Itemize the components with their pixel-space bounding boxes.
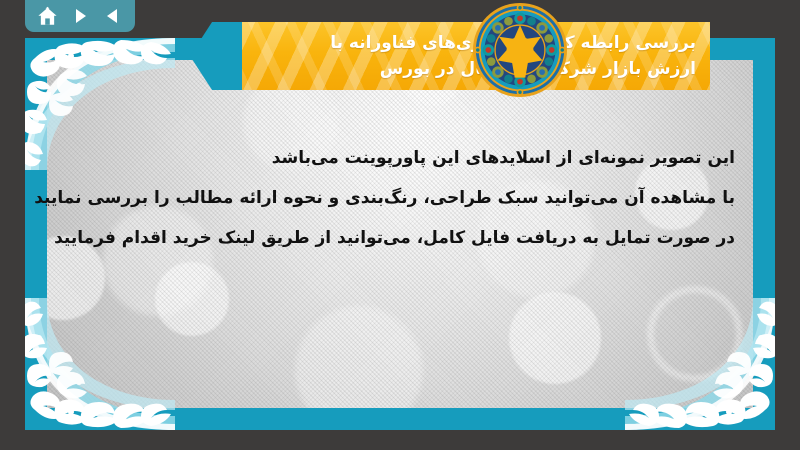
banner-chevron-arrow bbox=[190, 22, 248, 90]
bokeh-circle bbox=[295, 306, 423, 408]
home-button[interactable] bbox=[34, 3, 60, 29]
body-line-2: با مشاهده آن می‌توانید سبک طراحی، رنگ‌بن… bbox=[95, 178, 735, 218]
navigation-bar bbox=[25, 0, 135, 32]
bokeh-ring bbox=[647, 286, 743, 382]
slide[interactable]: این تصویر نمونه‌ای از اسلایدهای این پاور… bbox=[25, 38, 775, 430]
triangle-left-icon bbox=[103, 6, 123, 26]
slide-body-text: این تصویر نمونه‌ای از اسلایدهای این پاور… bbox=[95, 138, 735, 258]
bokeh-circle bbox=[509, 292, 601, 384]
body-line-3: در صورت تمایل به دریافت فایل کامل، می‌تو… bbox=[95, 218, 735, 258]
next-slide-button[interactable] bbox=[67, 3, 93, 29]
home-icon bbox=[37, 6, 58, 27]
body-line-1: این تصویر نمونه‌ای از اسلایدهای این پاور… bbox=[95, 138, 735, 178]
prev-slide-button[interactable] bbox=[100, 3, 126, 29]
presentation-viewer: این تصویر نمونه‌ای از اسلایدهای این پاور… bbox=[0, 0, 800, 450]
bokeh-circle bbox=[155, 262, 229, 336]
persian-shamseh-medallion-icon bbox=[472, 2, 568, 98]
triangle-right-icon bbox=[70, 6, 90, 26]
title-banner: بررسی رابطه کیفیت نوآوری‌های فناورانه با… bbox=[190, 22, 710, 90]
